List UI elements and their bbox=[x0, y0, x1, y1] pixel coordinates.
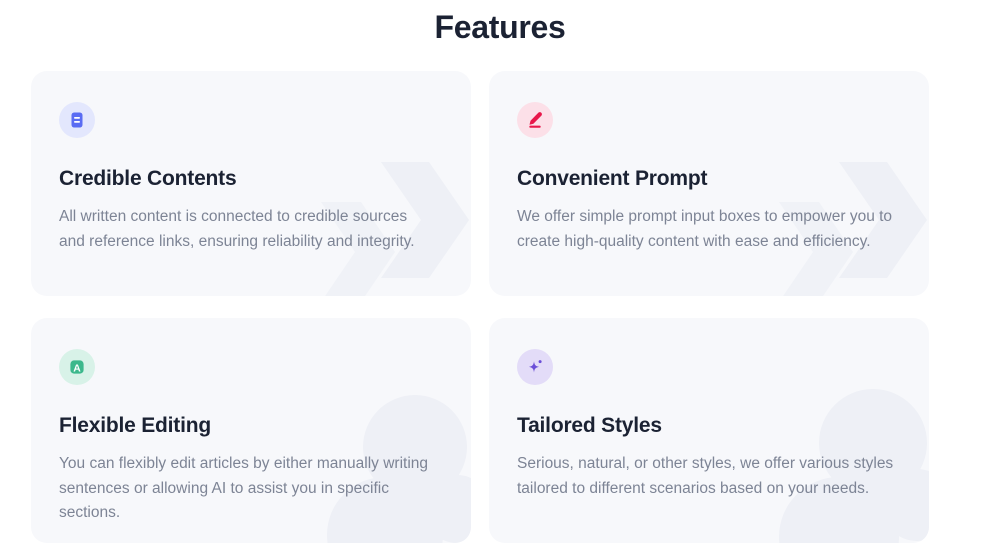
card-description: Serious, natural, or other styles, we of… bbox=[517, 452, 899, 501]
feature-card-convenient-prompt[interactable]: Convenient Prompt We offer simple prompt… bbox=[489, 71, 929, 296]
feature-card-tailored-styles[interactable]: Tailored Styles Serious, natural, or oth… bbox=[489, 318, 929, 543]
feature-card-flexible-editing[interactable]: A Flexible Editing You can flexibly edit… bbox=[31, 318, 471, 543]
card-title: Convenient Prompt bbox=[517, 166, 899, 192]
pencil-edit-icon bbox=[525, 110, 545, 130]
icon-badge bbox=[517, 102, 553, 138]
card-description: All written content is connected to cred… bbox=[59, 205, 431, 254]
icon-badge bbox=[517, 349, 553, 385]
feature-card-credible-contents[interactable]: Credible Contents All written content is… bbox=[31, 71, 471, 296]
svg-text:A: A bbox=[73, 363, 81, 374]
document-lines-icon bbox=[67, 110, 87, 130]
letter-a-icon: A bbox=[67, 357, 87, 377]
card-description: We offer simple prompt input boxes to em… bbox=[517, 205, 899, 254]
sparkle-icon bbox=[525, 357, 545, 377]
icon-badge: A bbox=[59, 349, 95, 385]
page-title: Features bbox=[0, 6, 1000, 48]
card-title: Credible Contents bbox=[59, 166, 441, 192]
feature-card-grid: Credible Contents All written content is… bbox=[31, 71, 969, 543]
icon-badge bbox=[59, 102, 95, 138]
card-description: You can flexibly edit articles by either… bbox=[59, 452, 431, 526]
card-title: Flexible Editing bbox=[59, 413, 441, 439]
card-title: Tailored Styles bbox=[517, 413, 899, 439]
features-section: Features Credible Contents All written c… bbox=[0, 0, 1000, 547]
